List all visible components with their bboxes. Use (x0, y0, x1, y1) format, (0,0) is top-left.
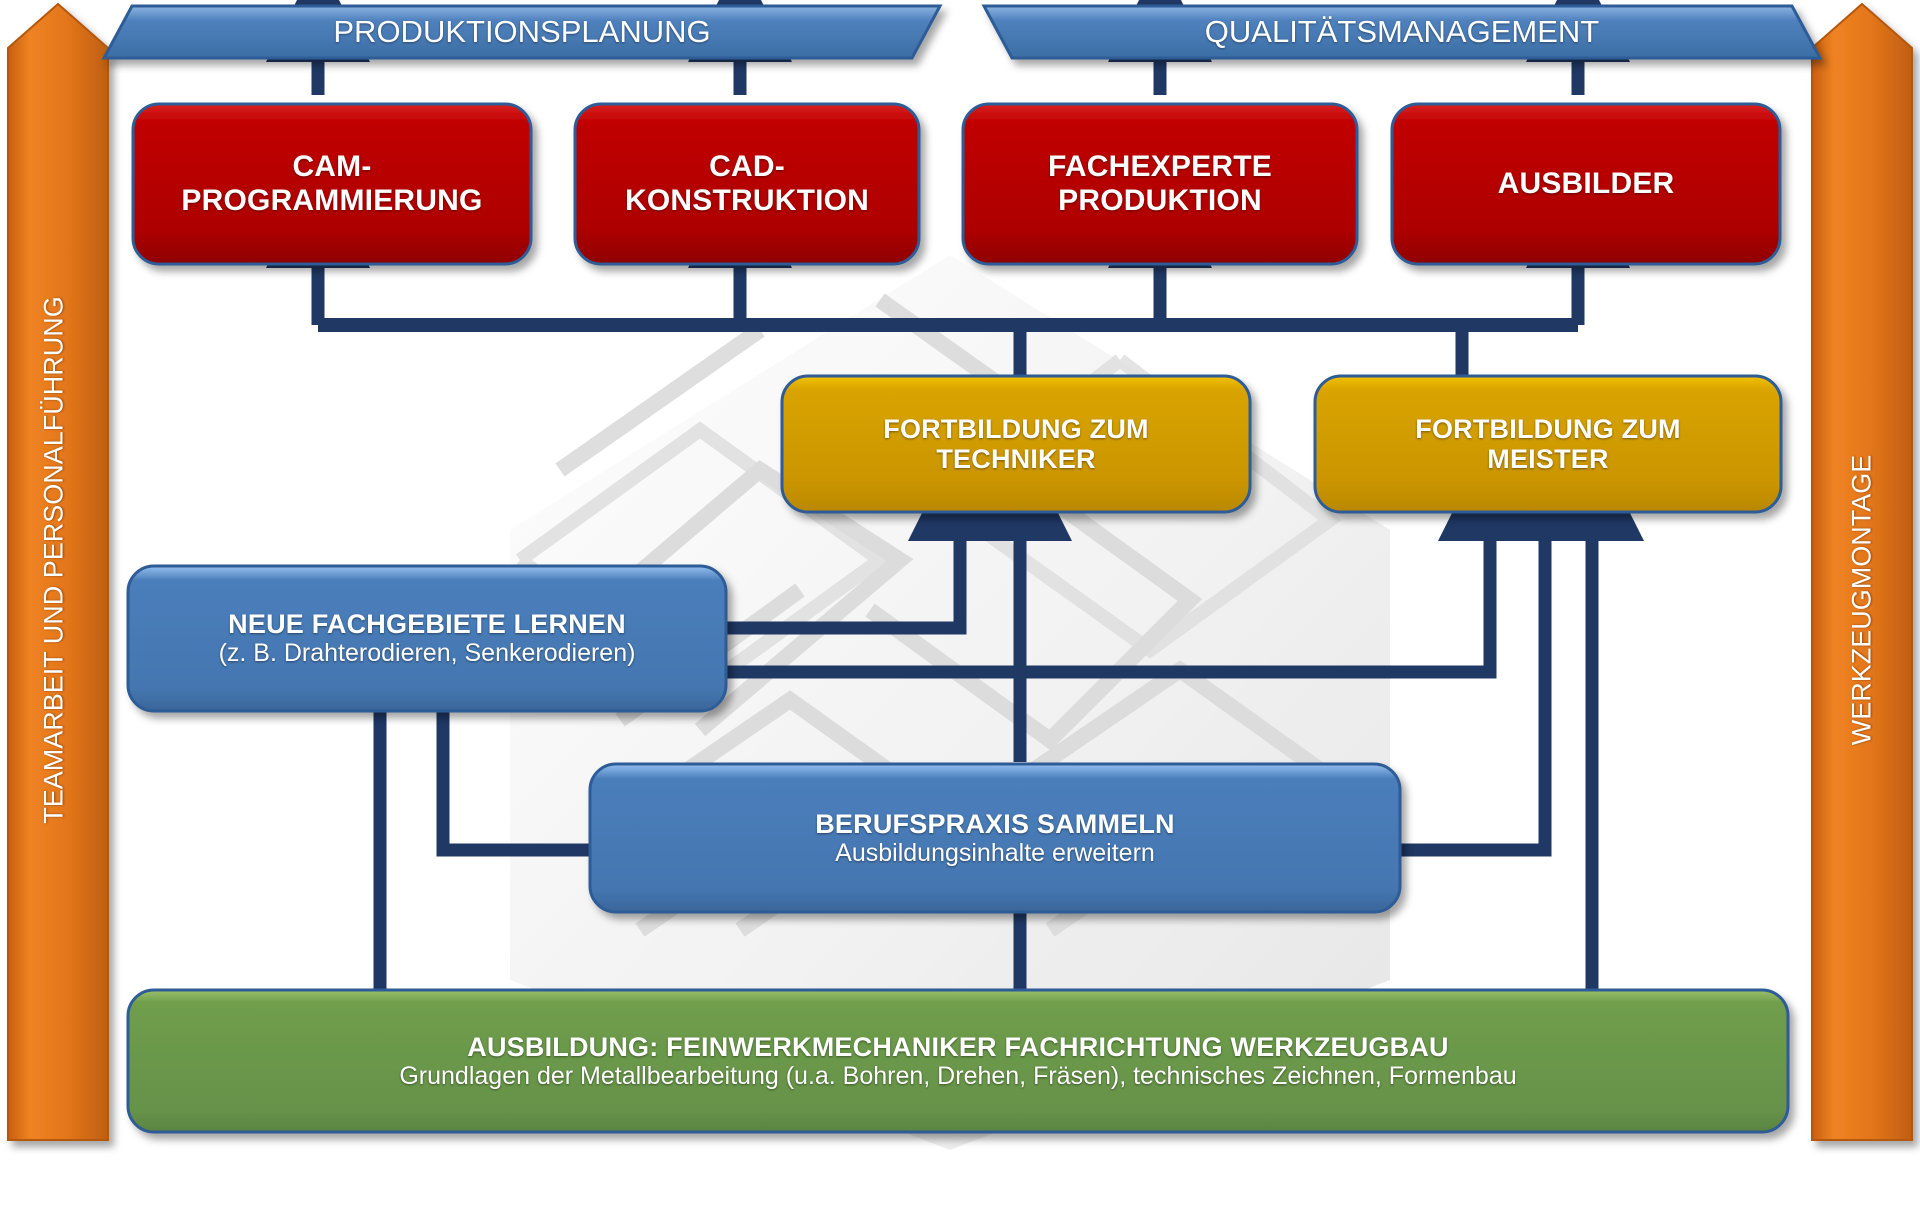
foundation-shape (128, 990, 1788, 1132)
qual-techniker-shape (782, 376, 1250, 512)
side-bar-right-text: WERKZEUGMONTAGE (1847, 50, 1878, 1150)
diagram-canvas: TEAMARBEIT UND PERSONALFÜHRUNG WERKZEUGM… (0, 0, 1920, 1209)
side-bar-left-label: TEAMARBEIT UND PERSONALFÜHRUNG (0, 0, 648, 108)
side-bar-right-label: WERKZEUGMONTAGE (1312, 0, 1920, 108)
role-fachexperte-shape (963, 104, 1357, 264)
role-ausbilder-shape (1392, 104, 1780, 264)
shape-layer (0, 0, 1920, 1209)
side-bar-left-text: TEAMARBEIT UND PERSONALFÜHRUNG (39, 10, 70, 1110)
step-neue-fachgebiete-shape (128, 566, 726, 711)
role-cam-shape (133, 104, 531, 264)
role-cad-shape (575, 104, 919, 264)
step-berufspraxis-shape (590, 764, 1400, 912)
qual-meister-shape (1315, 376, 1781, 512)
